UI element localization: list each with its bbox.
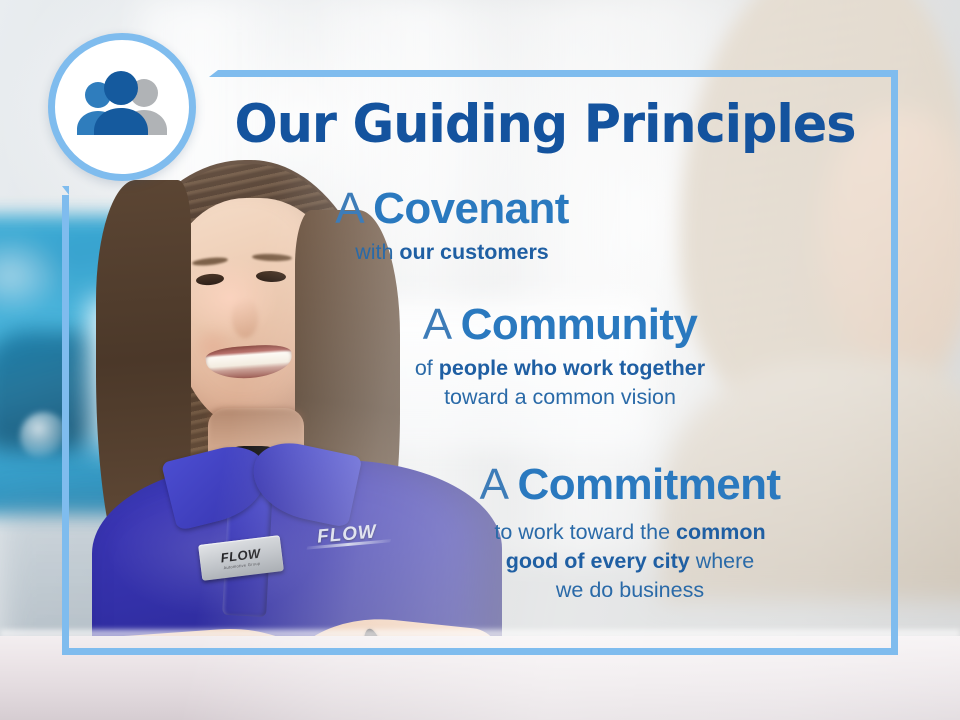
plain-text: to work toward the [494, 520, 676, 544]
principle-description: to work toward the commongood of every c… [380, 518, 880, 604]
principle-heading: A Covenant [230, 186, 674, 232]
description-line: good of every city where [380, 547, 880, 576]
plain-text: with [355, 240, 399, 264]
principle-covenant: A Covenant with our customers [230, 186, 674, 267]
principle-heading: A Commitment [380, 462, 880, 508]
plain-text: we do business [556, 578, 704, 602]
description-line: with our customers [230, 238, 674, 267]
principle-article: A [480, 460, 506, 509]
page-title: Our Guiding Principles [228, 97, 862, 152]
principle-keyword: Community [461, 300, 698, 349]
principle-description: of people who work togethertoward a comm… [300, 354, 820, 412]
banner-root: FLOW FLOW Automotive Group [0, 0, 960, 720]
description-line: of people who work together [300, 354, 820, 383]
plain-text: where [690, 549, 755, 573]
emphasis-text: our customers [399, 240, 548, 264]
principle-article: A [423, 300, 449, 349]
plain-text: toward a common vision [444, 385, 676, 409]
plain-text: of [415, 356, 439, 380]
principle-article: A [335, 184, 361, 233]
banner-content: Our Guiding Principles A Covenant with o… [0, 0, 960, 720]
emphasis-text: common [676, 520, 766, 544]
principle-keyword: Commitment [518, 460, 781, 509]
principle-description: with our customers [230, 238, 674, 267]
principle-community: A Community of people who work togethert… [300, 302, 820, 412]
description-line: toward a common vision [300, 383, 820, 412]
principle-keyword: Covenant [373, 184, 569, 233]
description-line: to work toward the common [380, 518, 880, 547]
principle-commitment: A Commitment to work toward the commongo… [380, 462, 880, 605]
principle-heading: A Community [300, 302, 820, 348]
emphasis-text: people who work together [439, 356, 705, 380]
emphasis-text: good of every city [506, 549, 690, 573]
description-line: we do business [380, 576, 880, 605]
